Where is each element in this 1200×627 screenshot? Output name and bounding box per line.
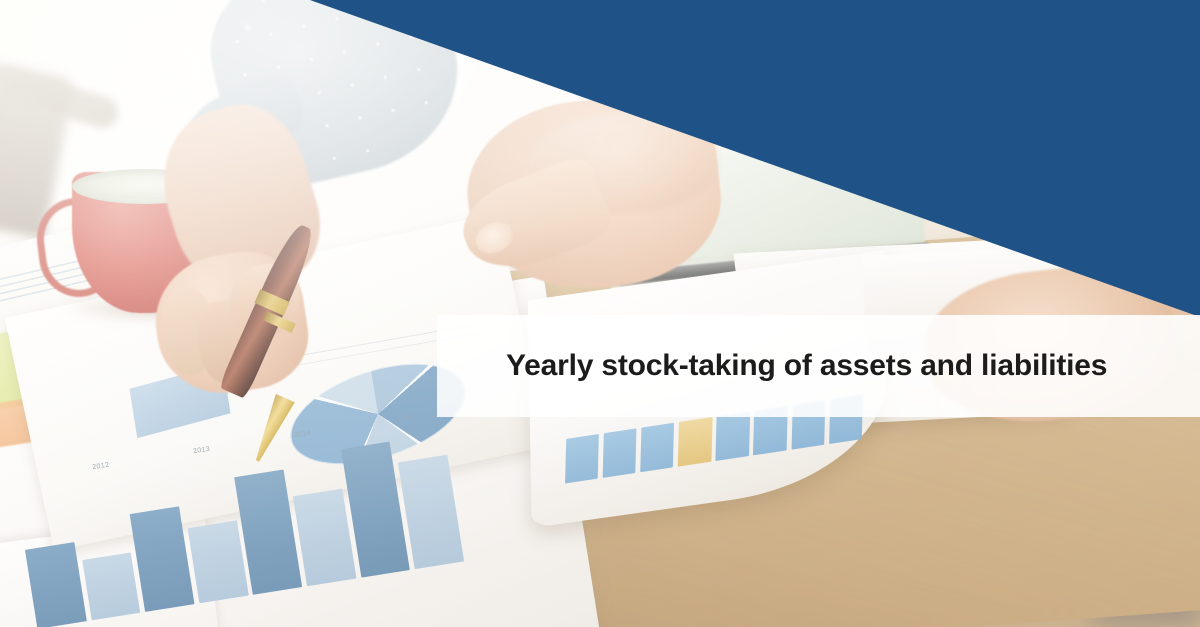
curl-bar-4	[678, 417, 712, 466]
curl-bar-1	[565, 434, 599, 483]
bar-2014-b	[293, 488, 356, 586]
curl-bar-5	[716, 411, 750, 460]
bar-2012-b	[82, 552, 141, 620]
page-title: Yearly stock-taking of assets and liabil…	[437, 349, 1107, 383]
bar-2013-b	[187, 520, 248, 603]
hero-banner: 2012 2013 2014 2015	[0, 0, 1200, 627]
title-banner: Yearly stock-taking of assets and liabil…	[437, 315, 1200, 417]
curl-bar-3	[640, 423, 674, 472]
background-photo: 2012 2013 2014 2015	[0, 0, 1200, 627]
bar-2013-a	[130, 506, 195, 612]
curl-bar-2	[603, 428, 637, 477]
bar-2012-a	[25, 542, 87, 627]
